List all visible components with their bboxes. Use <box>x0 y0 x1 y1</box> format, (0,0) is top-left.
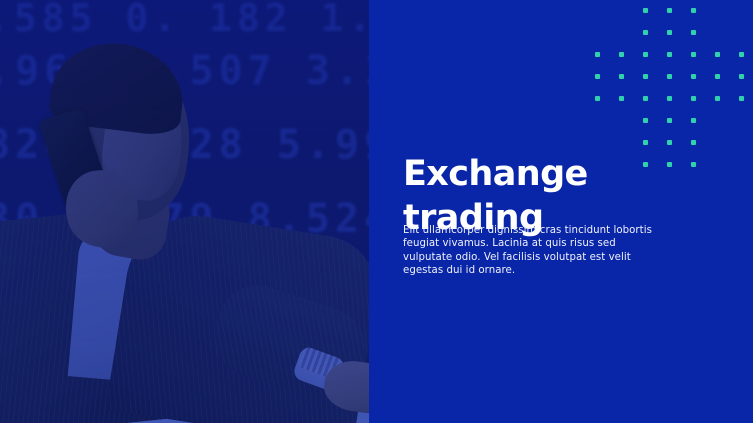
decorative-dot <box>691 52 696 57</box>
decorative-dot <box>619 74 624 79</box>
decorative-dot <box>667 8 672 13</box>
decorative-dot <box>667 74 672 79</box>
decorative-dot <box>691 96 696 101</box>
decorative-dot-pattern <box>369 0 753 140</box>
decorative-dot <box>667 52 672 57</box>
photo-blue-tint-overlay-secondary <box>0 0 369 423</box>
decorative-dot <box>595 74 600 79</box>
decorative-dot <box>739 52 744 57</box>
decorative-dot <box>595 96 600 101</box>
decorative-dot <box>691 118 696 123</box>
decorative-dot <box>715 52 720 57</box>
decorative-dot <box>691 8 696 13</box>
slide-content-panel: Exchange trading Elit ullamcorper dignis… <box>369 0 753 423</box>
decorative-dot <box>715 96 720 101</box>
decorative-dot <box>667 118 672 123</box>
decorative-dot <box>667 30 672 35</box>
decorative-dot <box>715 74 720 79</box>
decorative-dot <box>643 74 648 79</box>
decorative-dot <box>739 96 744 101</box>
decorative-dot <box>643 30 648 35</box>
body-paragraph: Elit ullamcorper dignissim cras tincidun… <box>403 224 661 278</box>
decorative-dot <box>619 96 624 101</box>
decorative-dot <box>667 140 672 145</box>
decorative-dot <box>619 52 624 57</box>
decorative-dot <box>643 8 648 13</box>
decorative-dot <box>643 118 648 123</box>
presentation-slide: .585 0. 182 1.049 8.696 .965 8.507 3.153… <box>0 0 753 423</box>
decorative-dot <box>643 140 648 145</box>
slide-photo: .585 0. 182 1.049 8.696 .965 8.507 3.153… <box>0 0 369 423</box>
decorative-dot <box>691 74 696 79</box>
decorative-dot <box>643 96 648 101</box>
decorative-dot <box>667 96 672 101</box>
decorative-dot <box>691 30 696 35</box>
decorative-dot <box>739 74 744 79</box>
decorative-dot <box>691 140 696 145</box>
decorative-dot <box>643 52 648 57</box>
decorative-dot <box>595 52 600 57</box>
